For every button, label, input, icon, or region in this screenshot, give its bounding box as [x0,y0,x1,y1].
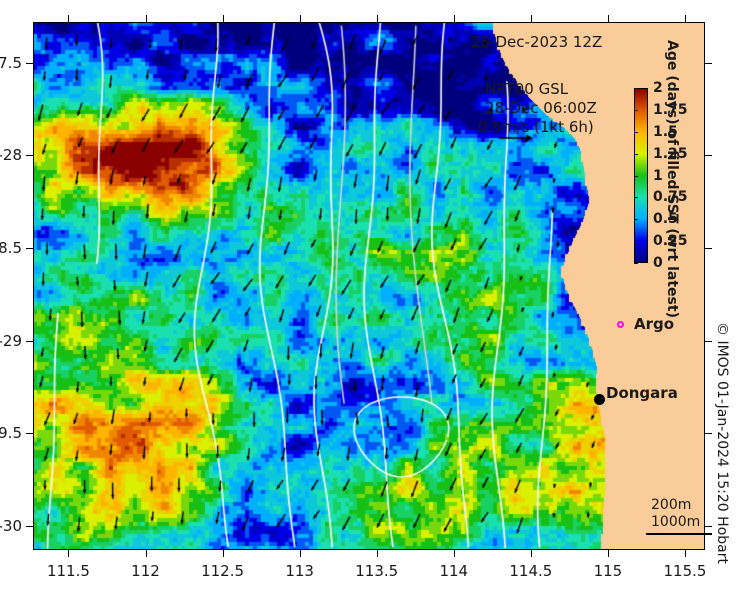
x-axis-label: 114 [439,562,468,580]
y-tick-right [705,155,712,156]
argo-marker-icon [617,321,624,328]
x-axis-label: 112.5 [201,562,244,580]
colorbar-title: Age (days) of filled SST (wrt latest) [664,40,680,280]
vector-legend-reference-arrow [497,130,543,146]
y-axis-label: -27.5 [0,54,22,72]
x-tick [146,550,147,557]
date-stamp: 28-Dec-2023 12Z [471,33,602,51]
x-axis-label: 112 [131,562,160,580]
colorbar-tick [634,263,638,264]
colorbar-tick [634,176,638,177]
x-tick-top [223,15,224,22]
x-tick-top [377,15,378,22]
y-tick [26,526,33,527]
x-tick-top [68,15,69,22]
y-tick-right [705,526,712,527]
x-tick [531,550,532,557]
map-overlay-layer [33,22,705,550]
x-tick-top [685,15,686,22]
x-tick-top [531,15,532,22]
sst-age-map-figure: 111.5112112.5113113.5114114.5115115.5-27… [0,0,740,592]
colorbar-tick-label: 2 [653,80,663,96]
colorbar-tick [634,88,638,89]
x-axis-label: 114.5 [509,562,552,580]
scale-bar-depth-200: 200m [651,497,691,513]
y-tick [26,433,33,434]
x-axis-label: 113.5 [355,562,398,580]
vector-legend-time: 28-Dec 06:00Z [485,99,597,117]
x-tick-top [146,15,147,22]
x-tick [608,550,609,557]
y-axis-label: -29 [0,332,22,350]
x-tick [454,550,455,557]
colorbar-tick [634,110,638,111]
colorbar-tick-label: 1 [653,168,663,184]
x-axis-label: 111.5 [47,562,90,580]
x-tick [300,550,301,557]
x-tick-top [300,15,301,22]
scale-bar-depth-1000: 1000m [651,514,700,530]
colorbar-tick [634,197,638,198]
y-tick [26,155,33,156]
map-plot-area [33,22,705,550]
x-tick [377,550,378,557]
y-tick [26,248,33,249]
y-axis-label: -28 [0,146,22,164]
dongara-marker-icon [594,394,605,405]
colorbar-tick-label: 0 [653,255,663,271]
y-axis-label: -29.5 [0,424,22,442]
x-axis-label: 115 [594,562,623,580]
x-tick-top [454,15,455,22]
dongara-label: Dongara [606,384,678,402]
x-tick [685,550,686,557]
y-tick [26,63,33,64]
colorbar-tick [634,132,638,133]
scale-bar-rule [646,533,712,535]
y-axis-label: -28.5 [0,239,22,257]
y-tick-right [705,63,712,64]
y-tick [26,341,33,342]
x-axis-label: 113 [285,562,314,580]
vector-legend-model: NRT00 GSL [485,80,568,98]
copyright-credit: © IMOS 01-Jan-2024 15:20 Hobart [714,322,730,582]
x-tick [68,550,69,557]
x-axis-label: 115.5 [663,562,706,580]
x-tick [223,550,224,557]
y-tick-right [705,341,712,342]
colorbar-tick [634,241,638,242]
y-tick-right [705,248,712,249]
x-tick-top [608,15,609,22]
colorbar-tick [634,154,638,155]
y-axis-label: -30 [0,517,22,535]
y-tick-right [705,433,712,434]
colorbar-tick [634,219,638,220]
